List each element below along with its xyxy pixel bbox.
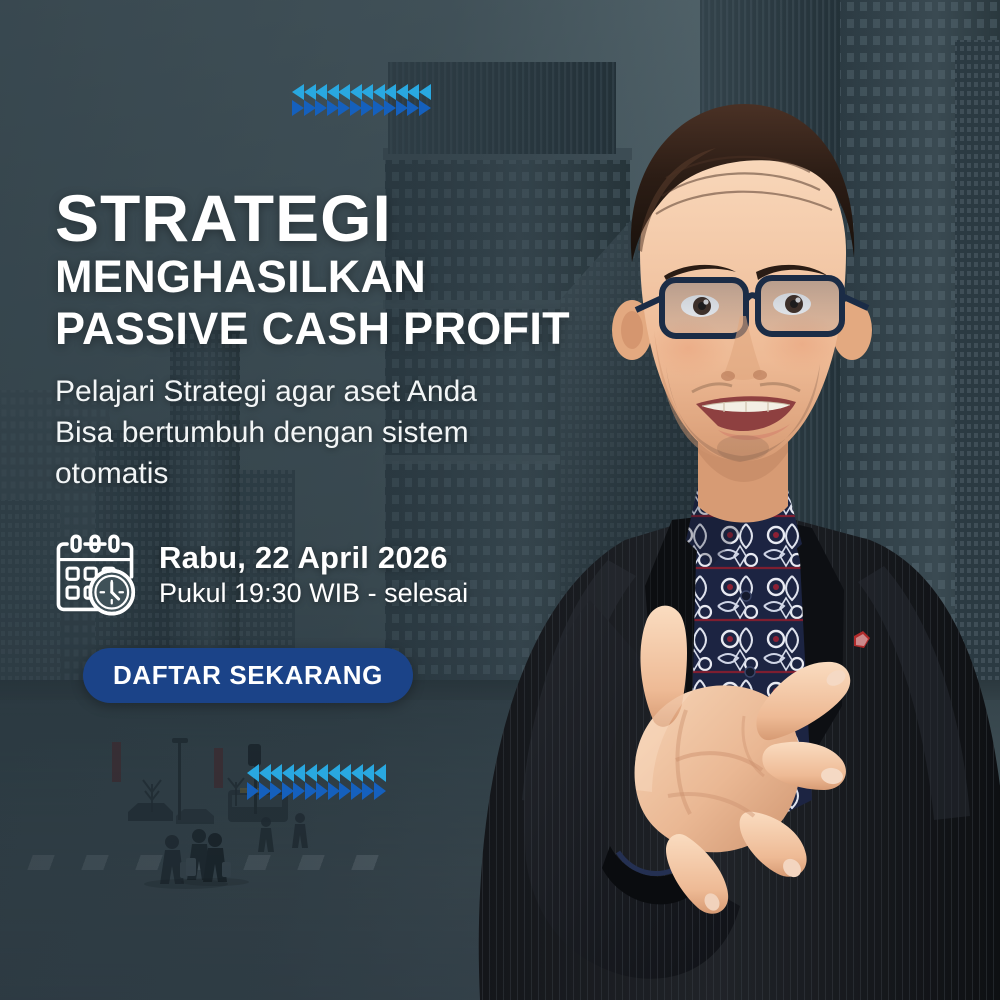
chevron-row-left [247, 764, 385, 782]
chevron-left-icon [282, 764, 294, 782]
chevron-left-icon [339, 764, 351, 782]
chevron-left-icon [305, 764, 317, 782]
headline-line-2: MENGHASILKAN [55, 251, 675, 303]
chevron-row-right [247, 782, 385, 800]
headline: STRATEGI MENGHASILKAN PASSIVE CASH PROFI… [55, 185, 675, 355]
headline-line-3: PASSIVE CASH PROFIT [55, 303, 675, 355]
schedule-time: Pukul 19:30 WIB - selesai [159, 577, 468, 611]
chevron-right-icon [247, 782, 259, 800]
chevron-left-icon [374, 764, 386, 782]
calendar-clock-icon [55, 532, 141, 618]
chevron-right-icon [259, 782, 271, 800]
chevron-left-icon [247, 764, 259, 782]
chevron-right-icon [374, 782, 386, 800]
chevron-right-icon [270, 782, 282, 800]
poster-content: STRATEGI MENGHASILKAN PASSIVE CASH PROFI… [55, 0, 675, 703]
subtitle-line-1: Pelajari Strategi agar aset Anda [55, 371, 675, 412]
chevron-right-icon [362, 782, 374, 800]
chevron-right-icon [293, 782, 305, 800]
subtitle-line-3: otomatis [55, 453, 675, 494]
chevron-left-icon [351, 764, 363, 782]
register-button[interactable]: DAFTAR SEKARANG [83, 648, 413, 703]
chevron-right-icon [328, 782, 340, 800]
chevron-right-icon [305, 782, 317, 800]
promo-poster: STRATEGI MENGHASILKAN PASSIVE CASH PROFI… [0, 0, 1000, 1000]
chevron-right-icon [351, 782, 363, 800]
headline-line-1: STRATEGI [55, 185, 675, 251]
chevron-left-icon [328, 764, 340, 782]
subtitle: Pelajari Strategi agar aset Anda Bisa be… [55, 371, 675, 494]
schedule-text: Rabu, 22 April 2026 Pukul 19:30 WIB - se… [159, 540, 468, 610]
chevron-left-icon [293, 764, 305, 782]
chevron-left-icon [362, 764, 374, 782]
subtitle-line-2: Bisa bertumbuh dengan sistem [55, 412, 675, 453]
chevron-left-icon [270, 764, 282, 782]
chevron-right-icon [316, 782, 328, 800]
chevron-left-icon [259, 764, 271, 782]
chevron-right-icon [282, 782, 294, 800]
chevron-right-icon [339, 782, 351, 800]
chevron-pattern-bottom [247, 764, 385, 800]
chevron-left-icon [316, 764, 328, 782]
schedule-date: Rabu, 22 April 2026 [159, 540, 468, 577]
schedule-block: Rabu, 22 April 2026 Pukul 19:30 WIB - se… [55, 532, 675, 618]
